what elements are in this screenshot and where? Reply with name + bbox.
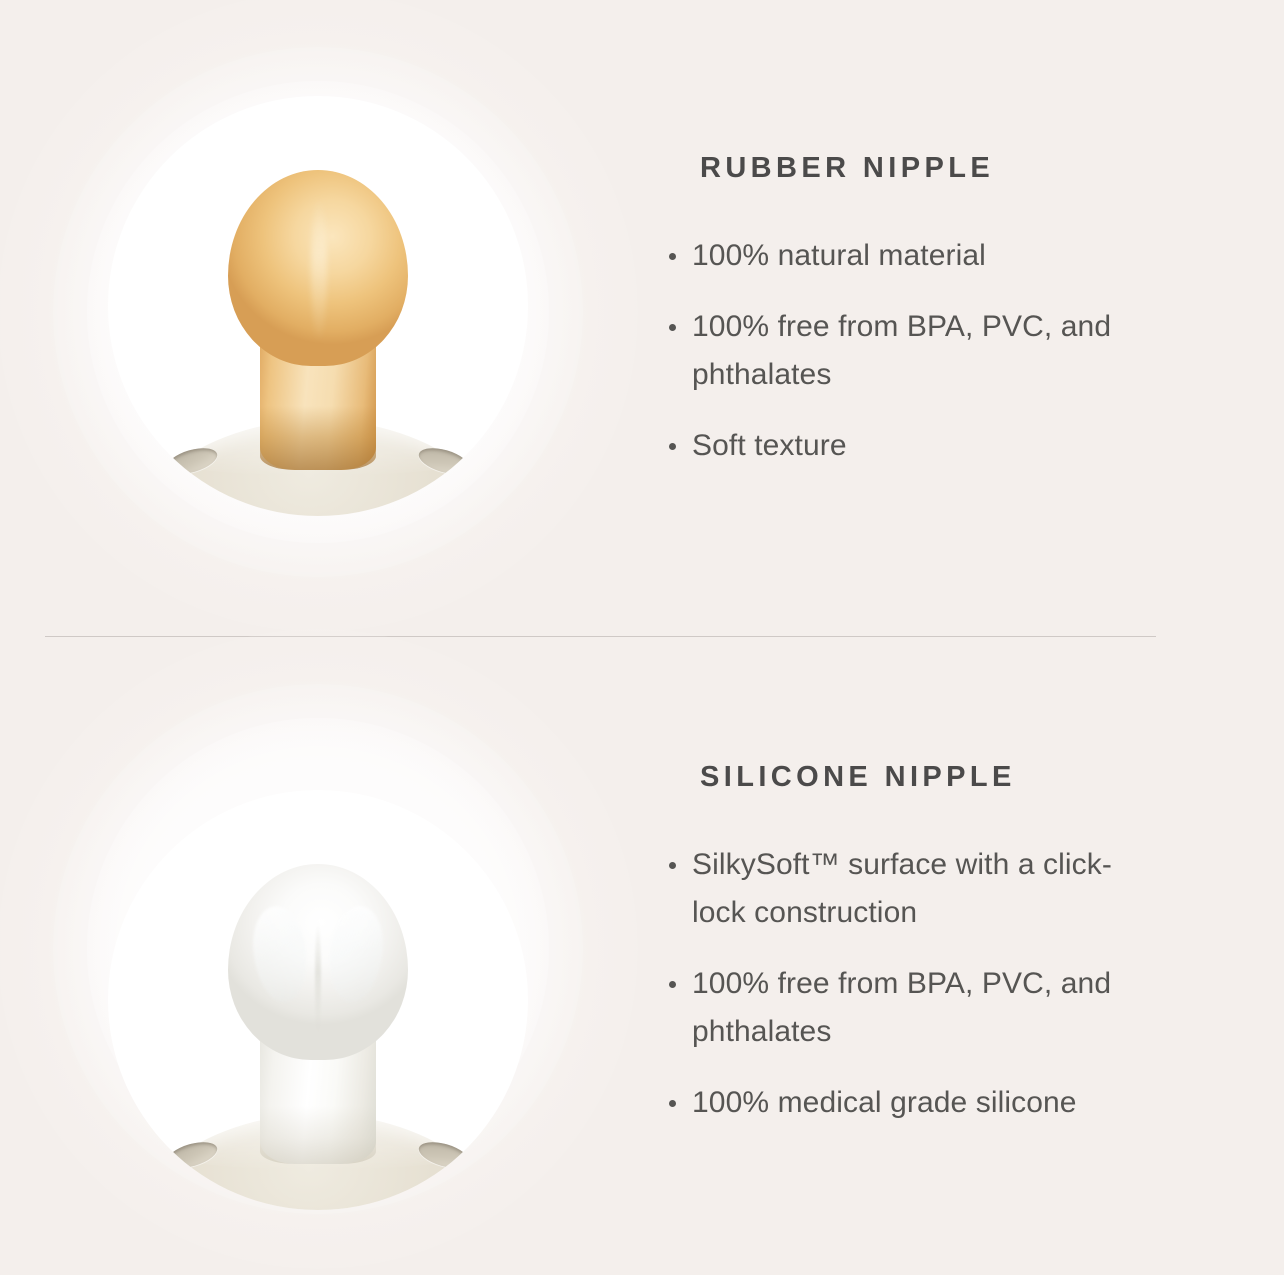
silicone-nipple-photo [108, 790, 528, 1210]
teat-bulb [228, 170, 408, 366]
silicone-copy-column: SILICONE NIPPLE SilkySoft™ surface with … [636, 637, 1284, 1127]
list-item: 100% free from BPA, PVC, and phthalates [665, 303, 1135, 399]
list-item-label: 100% free from BPA, PVC, and phthalates [692, 310, 1111, 391]
rubber-nipple-photo [108, 96, 528, 516]
section-silicone-nipple: SILICONE NIPPLE SilkySoft™ surface with … [0, 637, 1284, 1275]
highlight-right [324, 903, 387, 1005]
list-item-label: SilkySoft™ surface with a click-lock con… [692, 848, 1112, 929]
product-comparison-infographic: RUBBER NIPPLE 100% natural material 100%… [0, 0, 1284, 1275]
bullet-dot-icon [669, 324, 676, 331]
list-item: 100% free from BPA, PVC, and phthalates [665, 960, 1135, 1056]
section-rubber-nipple: RUBBER NIPPLE 100% natural material 100%… [0, 0, 1284, 636]
list-item: Soft texture [665, 422, 1135, 470]
list-item: 100% natural material [665, 232, 1135, 280]
rubber-copy-column: RUBBER NIPPLE 100% natural material 100%… [636, 0, 1284, 470]
rubber-section-heading: RUBBER NIPPLE [700, 152, 1284, 185]
list-item-label: 100% natural material [692, 239, 986, 272]
bullet-dot-icon [669, 443, 676, 450]
bullet-dot-icon [669, 862, 676, 869]
silicone-teat [227, 864, 409, 1164]
rubber-feature-list: 100% natural material 100% free from BPA… [665, 232, 1284, 470]
silicone-section-heading: SILICONE NIPPLE [700, 761, 1284, 794]
list-item-label: 100% free from BPA, PVC, and phthalates [692, 967, 1111, 1048]
bullet-dot-icon [669, 981, 676, 988]
list-item-label: 100% medical grade silicone [692, 1086, 1077, 1119]
rubber-teat [227, 170, 409, 470]
center-seam [315, 922, 321, 1032]
teat-bulb [228, 864, 408, 1060]
bullet-dot-icon [669, 253, 676, 260]
list-item: 100% medical grade silicone [665, 1079, 1284, 1127]
rubber-pacifier-illustration [108, 96, 528, 516]
rubber-media-column [0, 0, 636, 636]
list-item-label: Soft texture [692, 429, 847, 462]
bullet-dot-icon [669, 1100, 676, 1107]
silicone-media-column [0, 637, 636, 1275]
highlight-left [248, 903, 311, 1005]
list-item: SilkySoft™ surface with a click-lock con… [665, 841, 1135, 937]
silicone-feature-list: SilkySoft™ surface with a click-lock con… [665, 841, 1284, 1127]
silicone-pacifier-illustration [108, 790, 528, 1210]
